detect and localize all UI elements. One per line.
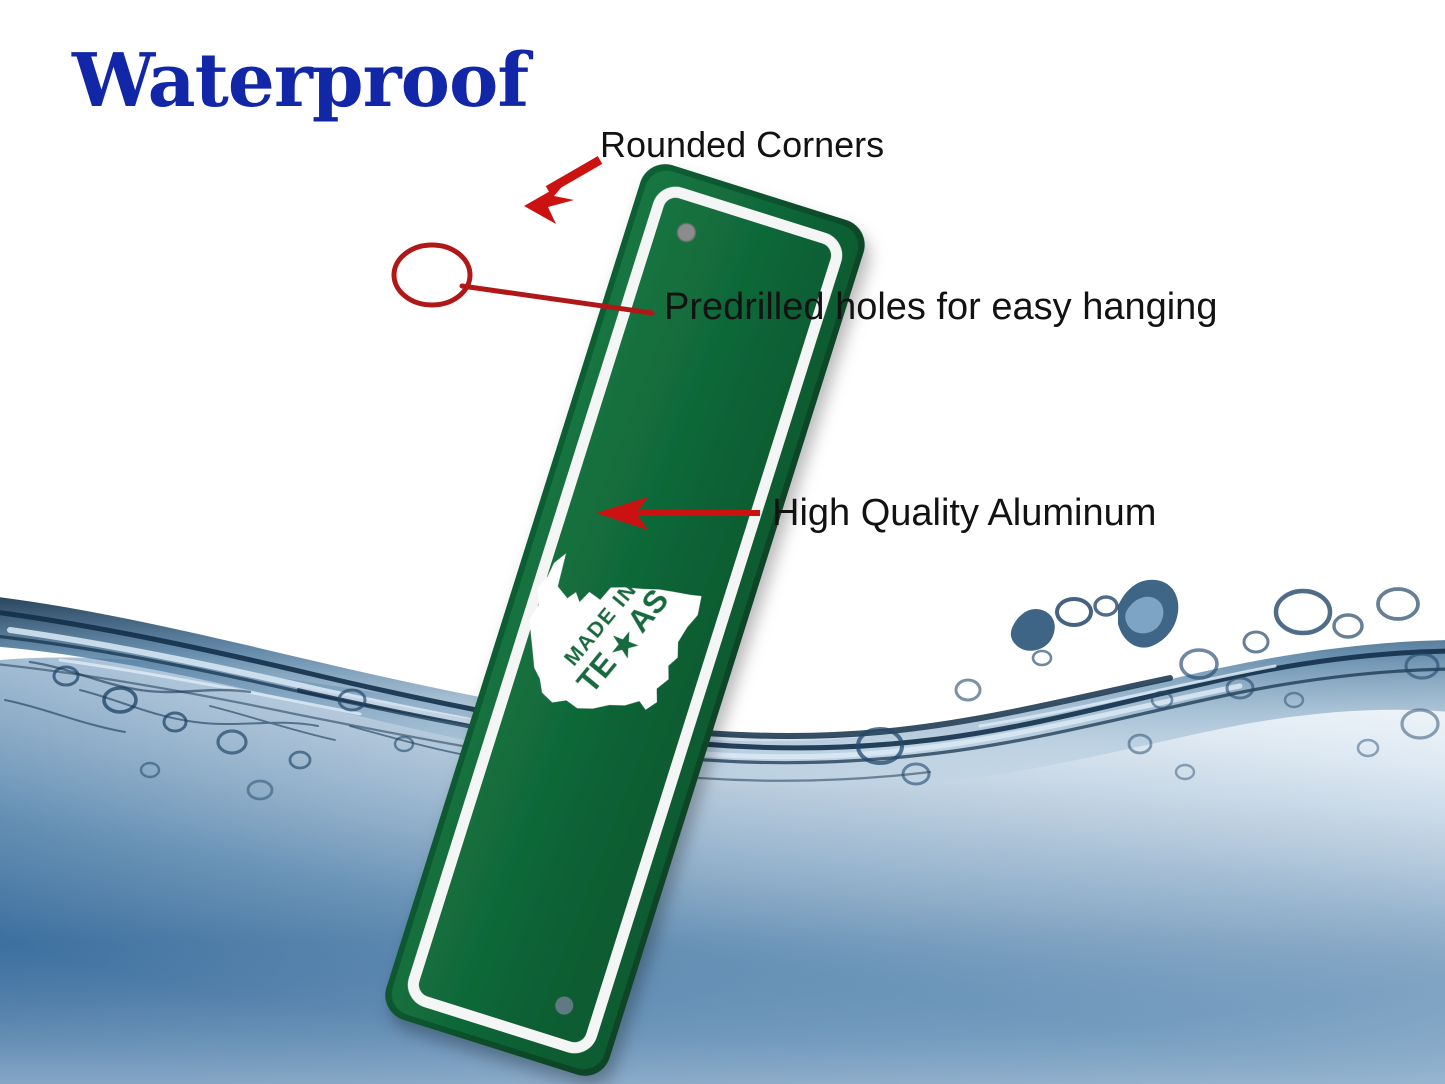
annotation-overlay <box>0 0 1445 1084</box>
leader-line-holes <box>462 286 652 313</box>
infographic-canvas: MADE IN TE ★ AS <box>0 0 1445 1084</box>
annotation-predrilled-holes <box>394 245 652 313</box>
arrow-rounded-corners <box>524 160 600 224</box>
arrow-high-quality-aluminum <box>596 497 760 530</box>
highlight-ellipse-hole <box>394 245 470 305</box>
